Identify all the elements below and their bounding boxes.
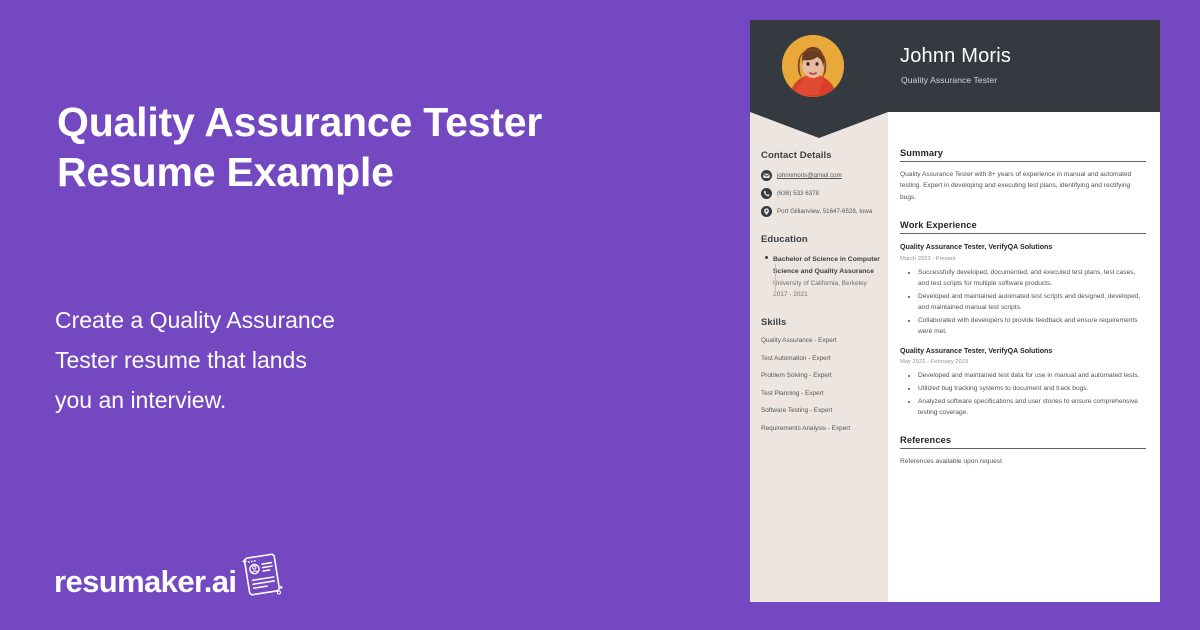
job-bullet-list: Successfully developed, documented, and …	[900, 267, 1146, 338]
contact-item-email[interactable]: johnnmoris@gmail.com	[761, 170, 881, 181]
work-experience-item: Quality Assurance Tester, VerifyQA Solut…	[900, 346, 1146, 419]
contact-item-address: Port Gillianview, 51647-6528, Iowa	[761, 206, 881, 217]
job-bullet: Successfully developed, documented, and …	[918, 267, 1146, 290]
skill-item: Test Automation - Expert	[761, 355, 881, 362]
summary-text: Quality Assurance Tester with 8+ years o…	[900, 169, 1146, 203]
resume-name: Johnn Moris	[900, 45, 1011, 68]
job-bullet: Collaborated with developers to provide …	[918, 315, 1146, 338]
page-title-line-2: Resume Example	[57, 147, 677, 197]
timeline-line	[775, 264, 776, 296]
brand-logo-text: resumaker.ai	[54, 565, 236, 599]
skill-item: Quality Assurance - Expert	[761, 337, 881, 344]
phone-icon	[761, 188, 772, 199]
education-heading: Education	[761, 234, 881, 245]
skills-heading: Skills	[761, 317, 881, 328]
summary-heading: Summary	[900, 148, 1146, 162]
education-dates: 2017 - 2021	[773, 289, 881, 300]
skill-item: Requirements Analysis - Expert	[761, 425, 881, 432]
references-heading: References	[900, 435, 1146, 449]
contact-details-heading: Contact Details	[761, 150, 881, 161]
resume-job-role: Quality Assurance Tester	[901, 75, 997, 85]
contact-address-value: Port Gillianview, 51647-6528, Iowa	[777, 206, 872, 216]
job-title: Quality Assurance Tester, VerifyQA Solut…	[900, 242, 1146, 253]
references-text: References available upon request	[900, 456, 1146, 467]
page-subtitle-line-1: Create a Quality Assurance	[55, 300, 475, 340]
skill-item: Test Planning - Expert	[761, 390, 881, 397]
contact-item-phone[interactable]: (636) 533 6378	[761, 188, 881, 199]
page-subtitle-line-3: you an interview.	[55, 380, 475, 420]
work-experience-heading: Work Experience	[900, 220, 1146, 234]
work-experience-item: Quality Assurance Tester, VerifyQA Solut…	[900, 242, 1146, 337]
job-title: Quality Assurance Tester, VerifyQA Solut…	[900, 346, 1146, 357]
resume-document-icon	[238, 552, 286, 598]
resume-sidebar: Contact Details johnnmoris@gmail.com (63…	[761, 150, 881, 432]
job-bullet: Utilized bug tracking systems to documen…	[918, 383, 1146, 394]
education-degree: Bachelor of Science in Computer Science …	[773, 254, 881, 277]
contact-phone-value: (636) 533 6378	[777, 188, 819, 198]
job-dates: May 2021 - February 2023	[900, 357, 1146, 367]
timeline-bullet-icon	[761, 254, 771, 300]
skill-item: Software Testing - Expert	[761, 407, 881, 414]
contact-email-value: johnnmoris@gmail.com	[777, 170, 842, 180]
job-bullet: Analyzed software specifications and use…	[918, 396, 1146, 419]
page-title: Quality Assurance Tester Resume Example	[57, 97, 677, 197]
location-pin-icon	[761, 206, 772, 217]
skill-item: Problem Solving - Expert	[761, 372, 881, 379]
education-school: University of California, Berkeley	[773, 278, 881, 289]
envelope-icon	[761, 170, 772, 181]
page-subtitle: Create a Quality Assurance Tester resume…	[55, 300, 475, 420]
brand-logo[interactable]: resumaker.ai	[54, 552, 286, 599]
job-bullet: Developed and maintained automated test …	[918, 291, 1146, 314]
avatar	[782, 35, 844, 97]
job-dates: March 2023 - Present	[900, 254, 1146, 264]
promo-panel: Quality Assurance Tester Resume Example …	[0, 0, 750, 630]
page-title-line-1: Quality Assurance Tester	[57, 97, 677, 147]
skills-list: Quality Assurance - Expert Test Automati…	[761, 337, 881, 432]
job-bullet-list: Developed and maintained test data for u…	[900, 370, 1146, 418]
job-bullet: Developed and maintained test data for u…	[918, 370, 1146, 381]
page-subtitle-line-2: Tester resume that lands	[55, 340, 475, 380]
resume-preview-card[interactable]: Johnn Moris Quality Assurance Tester Con…	[750, 20, 1160, 602]
resume-main-column: Summary Quality Assurance Tester with 8+…	[900, 148, 1146, 467]
education-item: Bachelor of Science in Computer Science …	[761, 254, 881, 300]
